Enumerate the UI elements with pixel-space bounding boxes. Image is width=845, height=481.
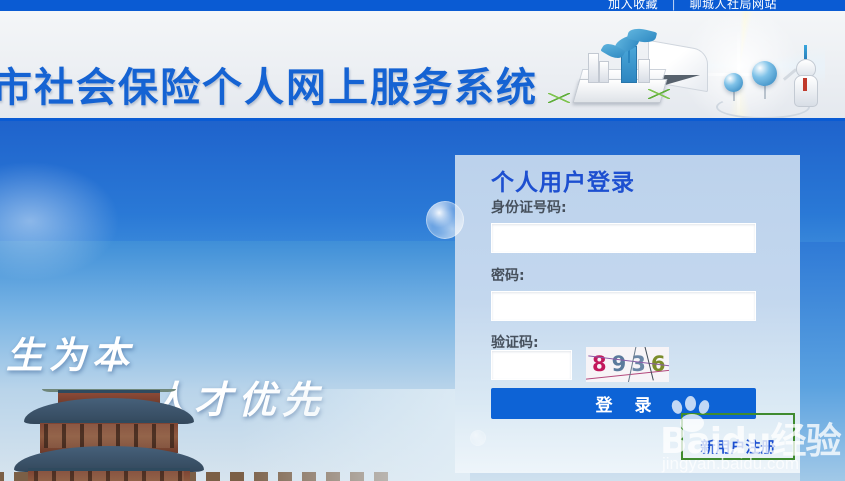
captcha-image[interactable]: 8936 <box>586 347 669 382</box>
building-icon <box>599 61 609 83</box>
id-number-label: 身份证号码: <box>491 197 567 217</box>
site-header: 市社会保险个人网上服务系统 <box>0 11 845 121</box>
gate-tower <box>14 389 204 481</box>
id-number-input[interactable] <box>491 223 756 253</box>
bubble-decoration <box>470 430 486 446</box>
mascot-tie <box>803 78 807 91</box>
building-icon <box>638 59 650 83</box>
top-utility-bar: 加入收藏 | 聊城人社局网站 <box>0 0 845 11</box>
tower-columns <box>34 471 184 481</box>
grass-icon <box>648 89 670 99</box>
captcha-label: 验证码: <box>491 332 539 352</box>
page-root: 加入收藏 | 聊城人社局网站 市社会保险个人网上服务系统 <box>0 0 845 481</box>
topbar-separator: | <box>672 0 676 11</box>
open-book-illustration <box>572 41 712 103</box>
bubble-decoration <box>426 201 464 239</box>
captcha-digit: 9 <box>612 352 632 376</box>
password-input[interactable] <box>491 291 756 321</box>
grass-icon <box>548 93 570 103</box>
top-utility-links: 加入收藏 | 聊城人社局网站 <box>608 0 777 11</box>
sphere-icon <box>724 73 743 92</box>
mascot-figure <box>788 53 822 111</box>
building-icon <box>588 53 599 83</box>
lens-glow-decoration <box>0 161 120 281</box>
tower-columns <box>44 424 174 448</box>
captcha-input[interactable] <box>491 350 572 380</box>
hero-slogan-line1: 生为本 <box>6 325 135 379</box>
atmospheric-haze <box>240 389 470 481</box>
bureau-site-link[interactable]: 聊城人社局网站 <box>689 0 777 11</box>
add-favorite-link[interactable]: 加入收藏 <box>608 0 658 11</box>
sphere-stem <box>733 91 735 101</box>
login-panel-title: 个人用户登录 <box>491 163 635 197</box>
register-button[interactable]: 新用户注册 <box>681 413 795 460</box>
login-panel: 个人用户登录 身份证号码: 密码: 验证码: 8936 登 录 新用户注册 <box>455 155 800 473</box>
sphere-icon <box>752 61 777 86</box>
mascot-antenna <box>804 45 807 59</box>
right-background-edge <box>800 242 845 481</box>
password-label: 密码: <box>491 265 525 285</box>
header-illustration <box>520 11 845 121</box>
sphere-stem <box>764 85 766 99</box>
site-title: 市社会保险个人网上服务系统 <box>0 55 538 113</box>
city-tower-photo <box>0 389 470 481</box>
